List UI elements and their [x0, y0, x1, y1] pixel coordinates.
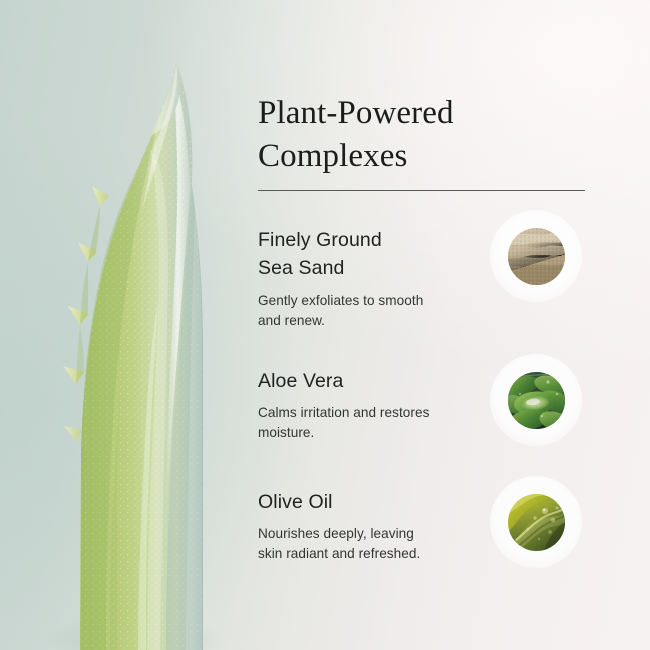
- aloe-vera-thumbnail-halo: [490, 354, 582, 446]
- ingredient-panel: Plant-PoweredComplexes Finely Ground Sea…: [0, 0, 650, 650]
- page-title-line-2: Complexes: [258, 135, 588, 178]
- aloe-leaf-hero-image: [0, 0, 260, 650]
- feature-description: Nourishes deeply, leaving skin radiant a…: [258, 524, 488, 564]
- page-title: Plant-PoweredComplexes: [258, 92, 588, 178]
- content-column: Plant-PoweredComplexes Finely Ground Sea…: [258, 0, 650, 650]
- feature-heading: Olive Oil: [258, 488, 488, 516]
- olive-oil-icon: [508, 494, 565, 551]
- feature-text-block: Olive Oil Nourishes deeply, leaving skin…: [258, 488, 488, 564]
- feature-text-block: Aloe Vera Calms irritation and restores …: [258, 367, 488, 443]
- page-title-line-1: Plant-Powered: [258, 95, 454, 131]
- sea-sand-icon: [508, 228, 565, 285]
- feature-description: Gently exfoliates to smooth and renew.: [258, 291, 488, 331]
- title-divider: [258, 190, 585, 191]
- olive-oil-thumbnail-halo: [490, 476, 582, 568]
- feature-text-block: Finely Ground Sea Sand Gently exfoliates…: [258, 226, 488, 331]
- feature-description: Calms irritation and restores moisture.: [258, 403, 488, 443]
- aloe-vera-icon: [508, 372, 565, 429]
- feature-heading: Aloe Vera: [258, 367, 488, 395]
- feature-heading: Finely Ground Sea Sand: [258, 226, 488, 282]
- sea-sand-thumbnail-halo: [490, 210, 582, 302]
